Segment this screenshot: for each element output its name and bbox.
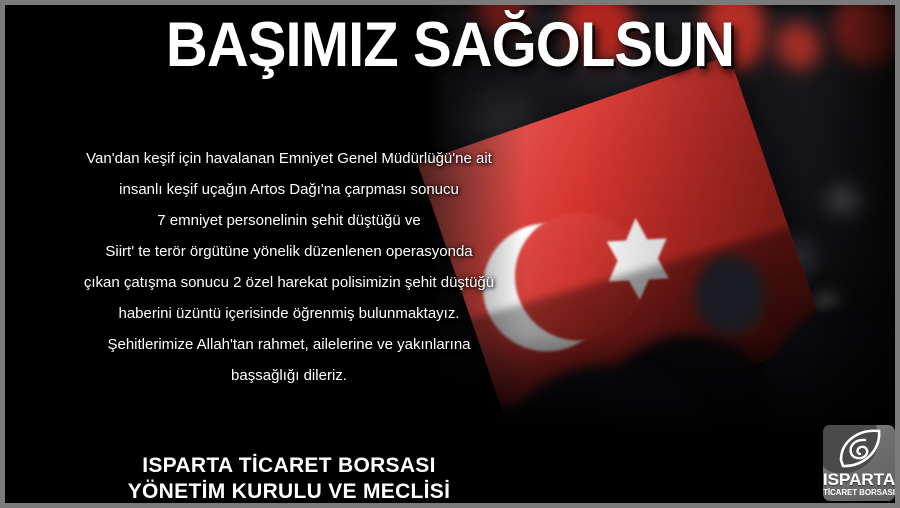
logo-name: ISPARTA [823,470,895,490]
headline: BAŞIMIZ SAĞOLSUN [41,13,860,77]
logo-subtitle: TİCARET BORSASI [823,488,895,497]
message-line: başsağlığı dileriz. [19,360,559,391]
signature-block: ISPARTA TİCARET BORSASI YÖNETİM KURULU V… [19,453,559,505]
message-line: insanlı keşif uçağın Artos Dağı'na çarpm… [19,174,559,205]
signature-line: ISPARTA TİCARET BORSASI [19,453,559,479]
memorial-poster: BAŞIMIZ SAĞOLSUN Van'dan keşif için hava… [0,0,900,508]
message-line: Şehitlerimize Allah'tan rahmet, aileleri… [19,329,559,360]
message-line: çıkan çatışma sonucu 2 özel harekat poli… [19,267,559,298]
isparta-ticaret-borsasi-logo: ISPARTA TİCARET BORSASI [823,425,895,501]
message-line: Van'dan keşif için havalanan Emniyet Gen… [19,143,559,174]
rose-leaf-spiral-icon [837,427,883,471]
message-line: 7 emniyet personelinin şehit düştüğü ve [19,205,559,236]
logo-artwork [823,425,895,473]
message-line: haberini üzüntü içerisinde öğrenmiş bulu… [19,298,559,329]
poster-content: BAŞIMIZ SAĞOLSUN Van'dan keşif için hava… [5,5,895,503]
signature-line: YÖNETİM KURULU VE MECLİSİ [19,479,559,505]
condolence-message: Van'dan keşif için havalanan Emniyet Gen… [19,143,559,391]
message-line: Siirt' te terör örgütüne yönelik düzenle… [19,236,559,267]
